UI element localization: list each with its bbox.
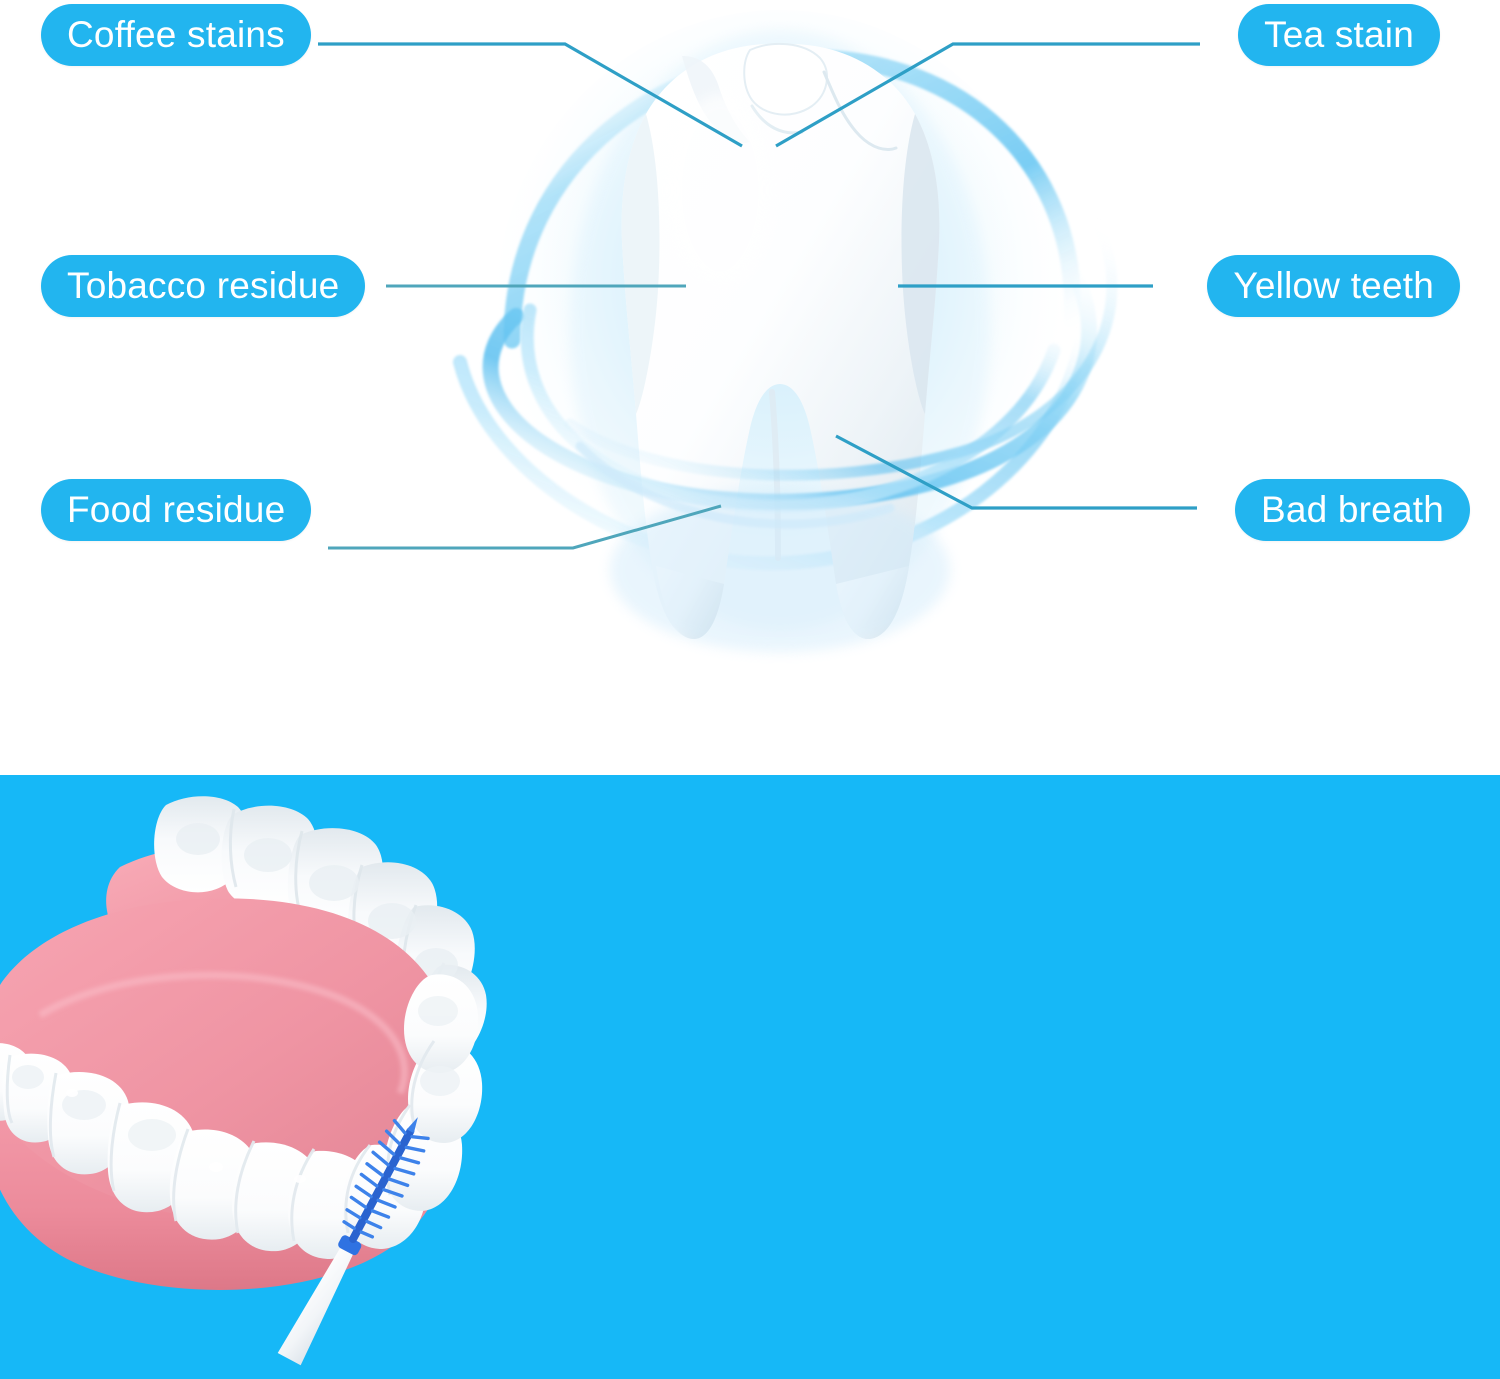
connector-yellow-teeth	[898, 282, 1153, 290]
connector-tobacco-residue	[386, 282, 686, 290]
tooth-diagram-section: Coffee stains Tobacco residue Food resid…	[0, 0, 1500, 775]
label-coffee-stains[interactable]: Coffee stains	[41, 4, 311, 66]
connector-coffee-stains	[318, 26, 748, 156]
connector-bad-breath	[832, 436, 1197, 546]
promo-banner-section: Incomplete cleaning of teeth can cause a…	[0, 775, 1500, 1379]
label-tobacco-residue[interactable]: Tobacco residue	[41, 255, 365, 317]
denture-model-illustration	[0, 775, 540, 1379]
connector-food-residue	[328, 506, 728, 626]
connector-tea-stain	[760, 26, 1200, 156]
label-yellow-teeth[interactable]: Yellow teeth	[1207, 255, 1460, 317]
label-tea-stain[interactable]: Tea stain	[1238, 4, 1440, 66]
label-food-residue[interactable]: Food residue	[41, 479, 311, 541]
label-bad-breath[interactable]: Bad breath	[1235, 479, 1470, 541]
